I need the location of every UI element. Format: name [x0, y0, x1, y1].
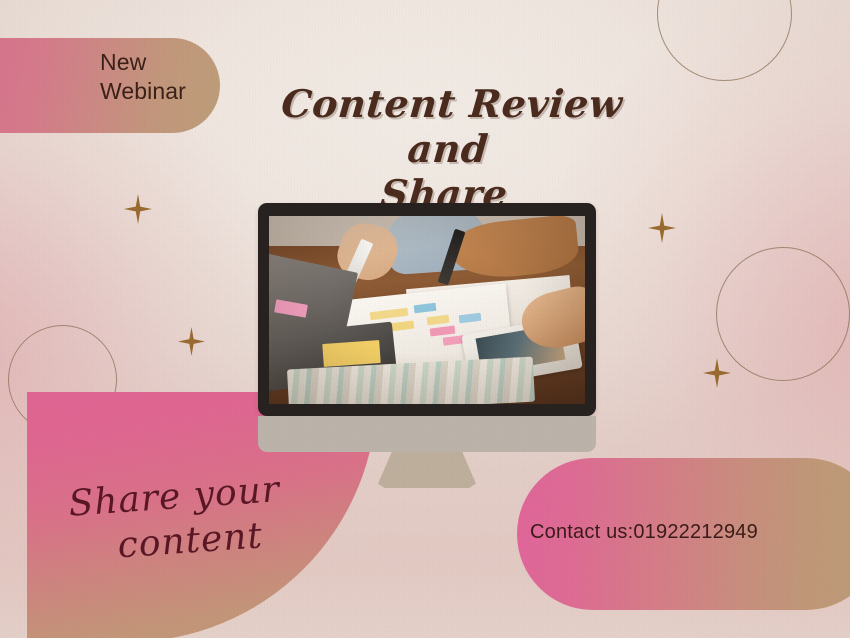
badge-line-2: Webinar	[100, 78, 186, 104]
page-title: Content Review and Share	[232, 82, 664, 216]
monitor-frame	[258, 203, 596, 416]
new-webinar-badge-label: New Webinar	[100, 48, 220, 107]
monitor-chin	[258, 416, 596, 452]
monitor-stand	[378, 452, 476, 488]
monitor-screen	[269, 216, 585, 404]
contact-info: Contact us:01922212949	[530, 521, 758, 544]
share-your-content-script: Share your content	[67, 463, 323, 573]
desk-workspace-photo	[269, 216, 585, 404]
webinar-poster: New Webinar Content Review and Share	[0, 0, 850, 638]
headline-line-1: Content Review and	[280, 81, 625, 171]
photo-vignette	[269, 216, 585, 404]
badge-line-1: New	[100, 49, 146, 75]
circle-outline-right-icon	[716, 247, 850, 381]
